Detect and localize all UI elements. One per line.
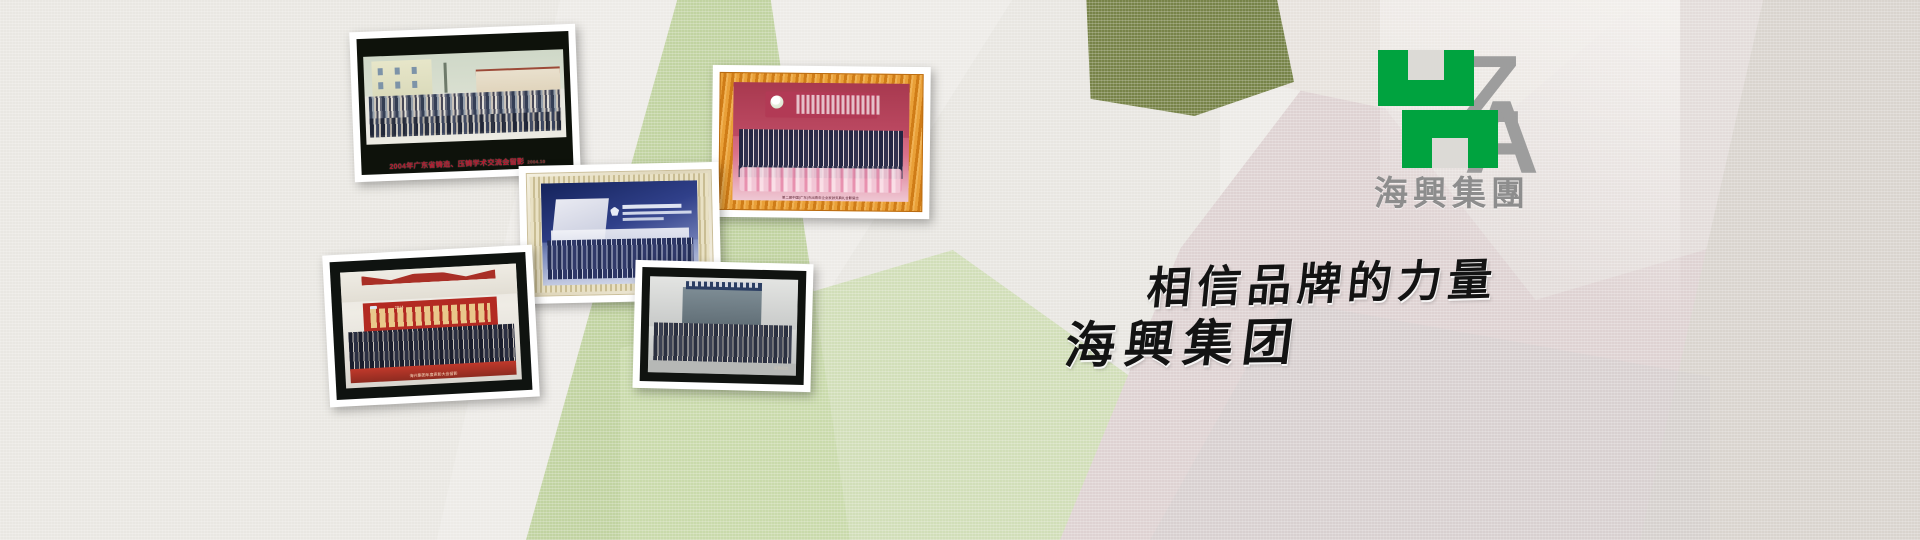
- logo-h-top-notch: [1408, 50, 1444, 80]
- photo-scene: 留影纪念: [648, 276, 798, 375]
- slogan-block: 相信品牌的力量 海興集团: [1060, 248, 1520, 388]
- photo-inner: 2004年广东省铸造、压铸学术交流会留影2004.10: [356, 31, 573, 175]
- photo-frame-entrance-group: 留影纪念: [632, 260, 813, 392]
- photo-scene: 2014 海兴集团年度表彰大会留影: [340, 263, 522, 388]
- photo-frame-award-ceremony: 第二届中国(广东)杰出青年企业家颁奖典礼合影留念: [711, 65, 931, 219]
- caption-date: 2004.10: [527, 159, 545, 165]
- logo-h-bottom-notch: [1432, 138, 1468, 168]
- award-emblem-icon: [770, 95, 783, 108]
- caption-text: 2004年广东省铸造、压铸学术交流会留影: [389, 157, 524, 171]
- photo-frame-guangdong-2004: 2004年广东省铸造、压铸学术交流会留影2004.10: [349, 24, 581, 183]
- photo-caption: 第二届中国(广东)杰出青年企业家颁奖典礼合影留念: [733, 194, 908, 201]
- backdrop-year: 2014: [395, 304, 404, 309]
- bg-shape-olive-pentagon: [1068, 0, 1294, 116]
- photo-inner: 留影纪念: [640, 267, 807, 385]
- flower-arrangement: [740, 167, 902, 192]
- promo-banner: 2004年广东省铸造、压铸学术交流会留影2004.10 第二届中国(广东)杰出青…: [0, 0, 1920, 540]
- logo-company-name: 海興集團: [1374, 166, 1530, 215]
- company-logo: Z A 海興集團: [1378, 48, 1608, 218]
- stage-banner-text: [797, 94, 881, 114]
- photo-frame-annual-conference: 2014 海兴集团年度表彰大会留影: [322, 245, 540, 408]
- photo-inner: 2014 海兴集团年度表彰大会留影: [330, 252, 533, 400]
- photo-inner: 第二届中国(广东)杰出青年企业家颁奖典礼合影留念: [718, 72, 923, 212]
- photo-scene: 第二届中国(广东)杰出青年企业家颁奖典礼合影留念: [733, 82, 910, 203]
- flagpole: [443, 62, 447, 92]
- attendee-row: [653, 322, 793, 364]
- background-layer: [0, 0, 1920, 540]
- slogan-line-2: 海興集团: [1061, 302, 1306, 378]
- logo-mark: Z A: [1378, 48, 1578, 168]
- photo-scene: [364, 49, 567, 145]
- photo-stamp: 留影纪念: [774, 366, 788, 371]
